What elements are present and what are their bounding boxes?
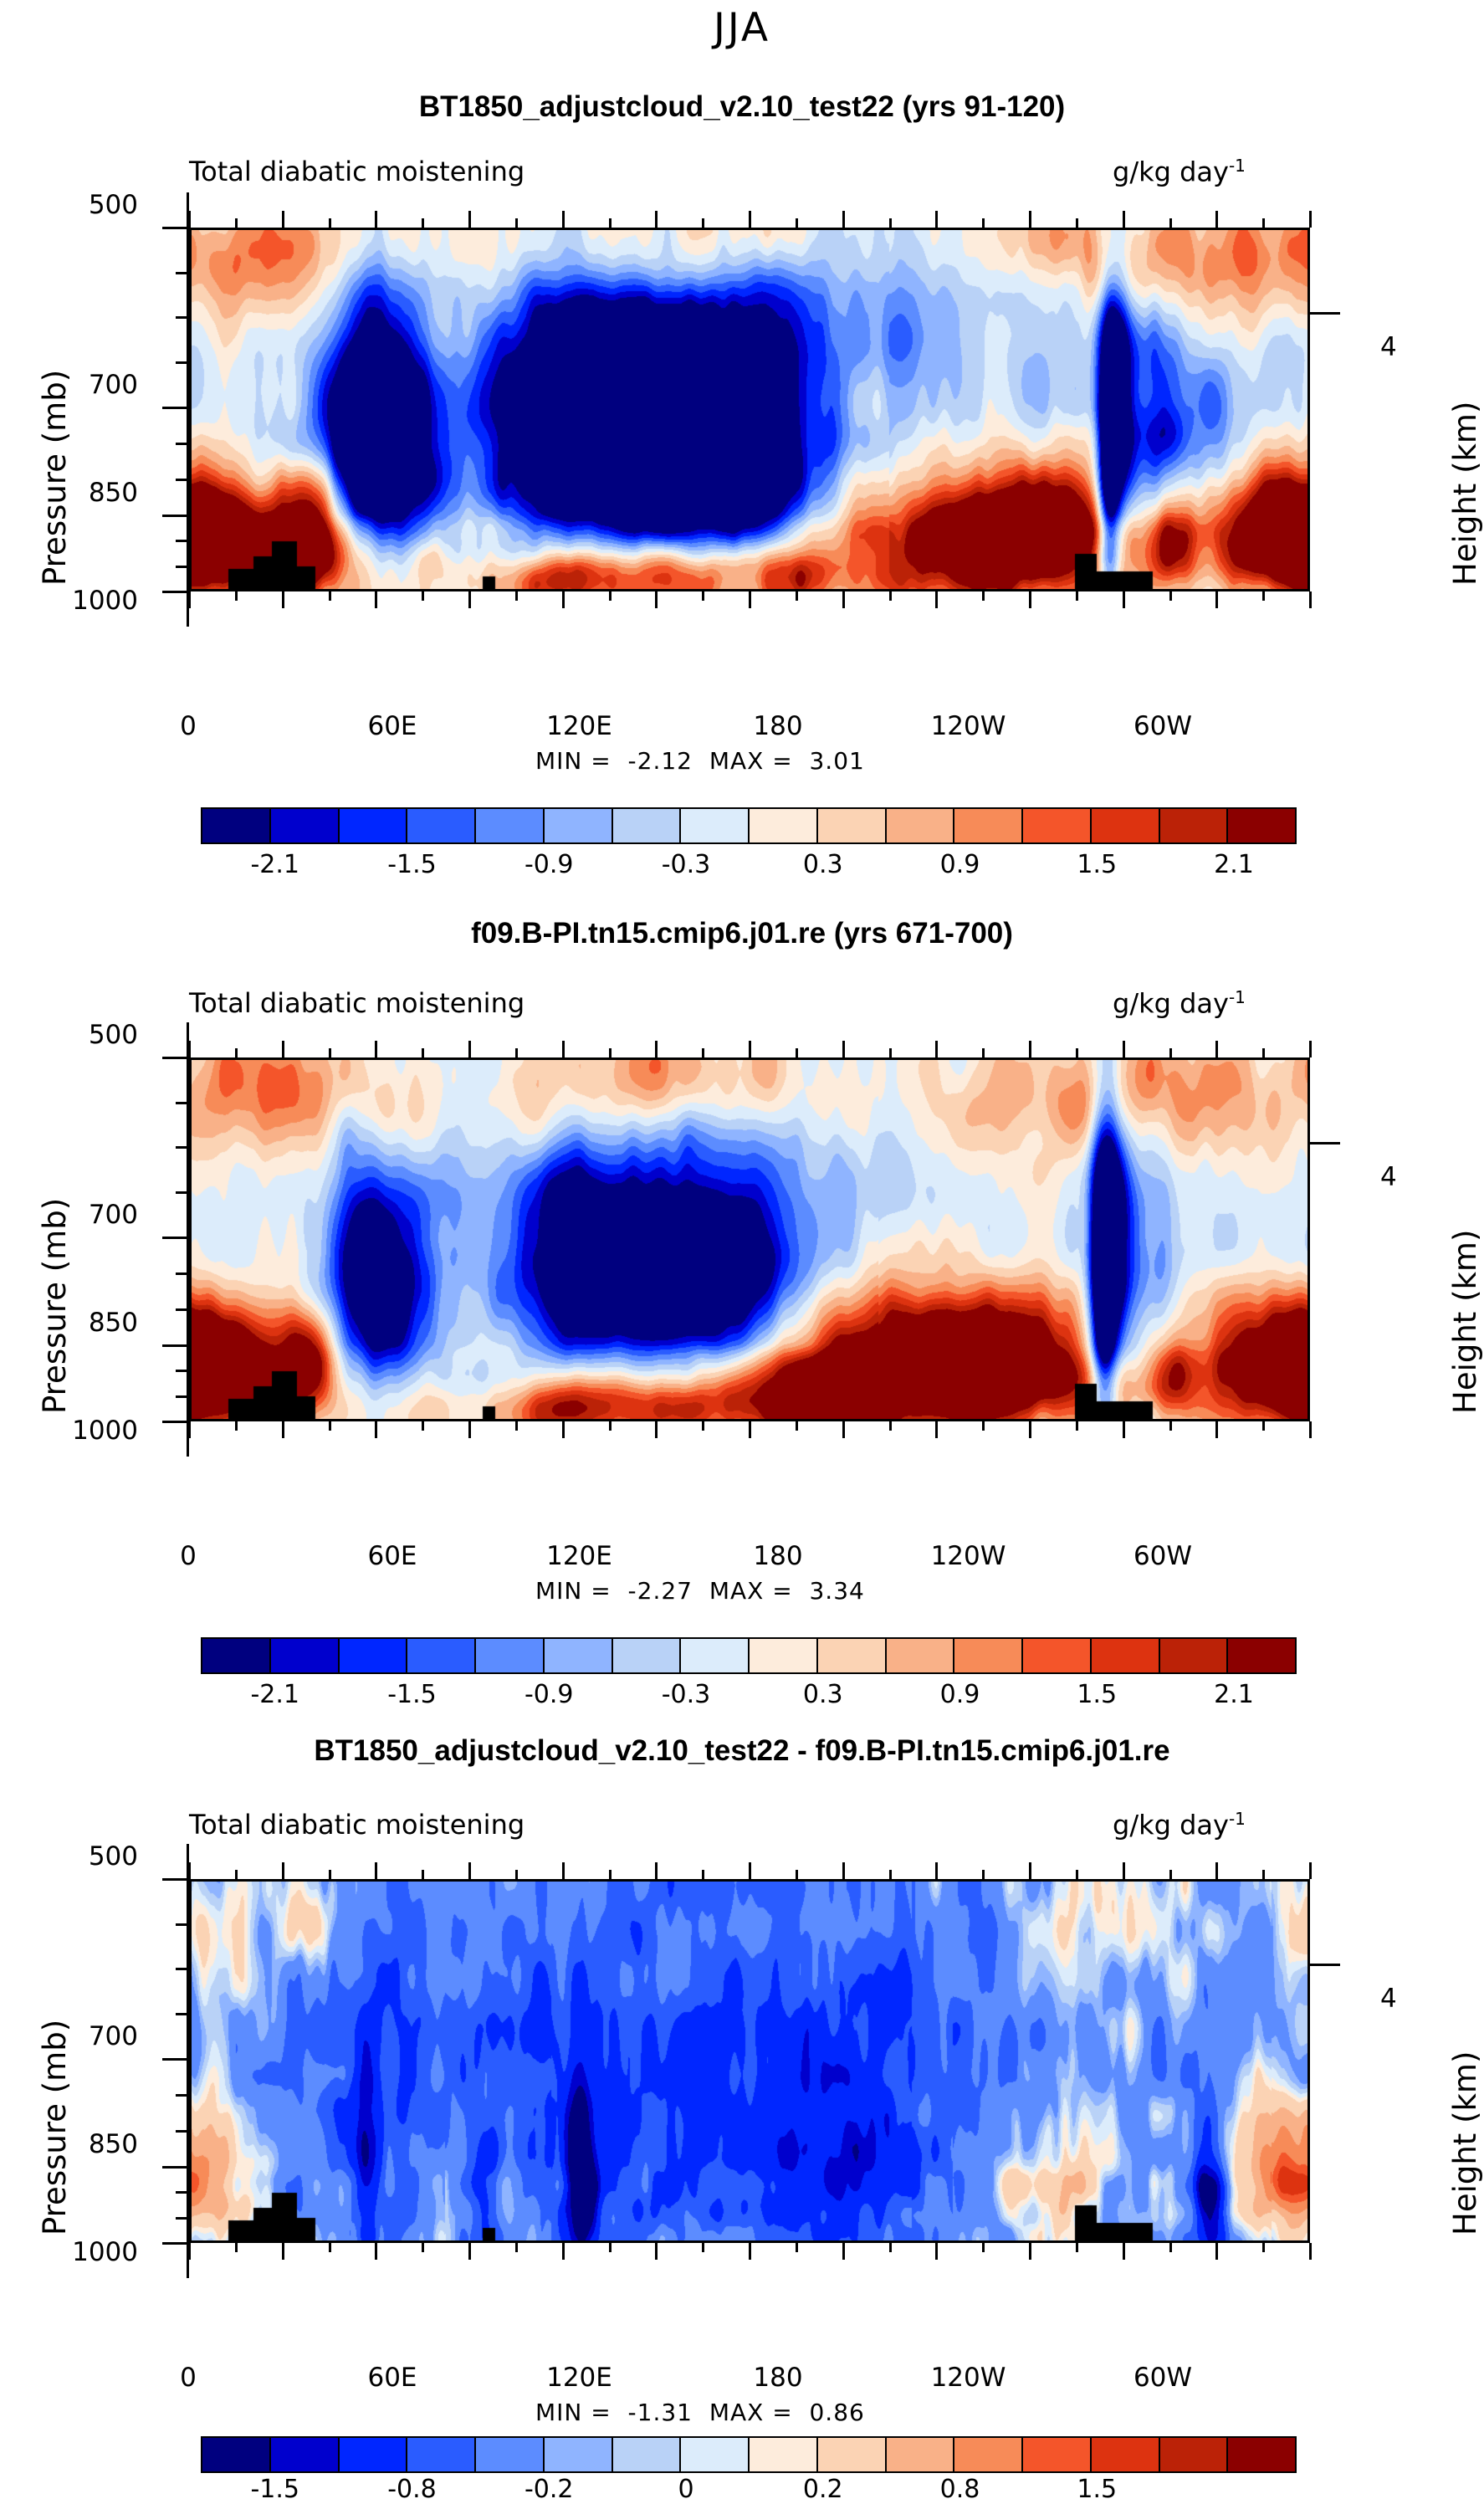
xtick-top-255 [982, 1048, 985, 1057]
colorbar-segment-5 [545, 2438, 613, 2471]
xtick-top-90 [468, 1862, 471, 1879]
xtick-top-300 [1123, 1041, 1125, 1057]
xtick-bottom-210 [842, 2243, 845, 2260]
xtick-bottom-105 [515, 591, 518, 601]
xtick-top-60 [375, 211, 377, 228]
xtick-top-45 [329, 1048, 331, 1057]
colorbar-segment-9 [818, 2438, 887, 2471]
xtick-top-30 [282, 1041, 284, 1057]
colorbar-segment-7 [681, 1639, 750, 1672]
xtick-top-135 [609, 218, 612, 228]
xtick-bottom-60 [375, 1421, 377, 1438]
xtick-bottom-135 [609, 1421, 612, 1431]
xtick-top-120 [562, 1862, 565, 1879]
colorbar-segment-11 [954, 1639, 1023, 1672]
xtick-bottom-180 [749, 2243, 751, 2260]
xtick-top-75 [422, 1870, 424, 1879]
panel-middle-minmax: MIN = -2.27 MAX = 3.34 [535, 1577, 865, 1605]
panel-middle-colorbar [201, 1637, 1297, 1674]
xtick-bottom-210 [842, 591, 845, 608]
ytick-left-850 [162, 515, 189, 517]
xtick-top-360 [1309, 1041, 1312, 1057]
colorbar-tick-label-0: -2.1 [212, 850, 338, 879]
xtick-bottom-45 [329, 1421, 331, 1431]
colorbar-segment-2 [340, 1639, 408, 1672]
xtick-bottom-315 [1169, 1421, 1172, 1431]
colorbar-segment-3 [407, 1639, 476, 1672]
colorbar-segment-4 [476, 2438, 545, 2471]
xtick-bottom-345 [1262, 2243, 1265, 2252]
xtick-bottom-75 [422, 591, 424, 601]
xtick-bottom-225 [889, 1421, 892, 1431]
xtick-top-240 [935, 211, 938, 228]
panel-middle-ytick-700: 700 [50, 1200, 138, 1230]
colorbar-segment-0 [202, 809, 271, 842]
xtick-top-285 [1076, 1048, 1078, 1057]
colorbar-segment-8 [750, 809, 818, 842]
colorbar-tick-label-0: -2.1 [212, 1680, 338, 1709]
xtick-top-270 [1029, 1862, 1031, 1879]
colorbar-segment-4 [476, 1639, 545, 1672]
xtick-top-15 [235, 1870, 238, 1879]
panel-top-minmax: MIN = -2.12 MAX = 3.01 [535, 747, 865, 775]
xtick-top-330 [1215, 1041, 1218, 1057]
xtick-top-195 [796, 1048, 798, 1057]
ytick-left-850 [162, 1344, 189, 1347]
panel-bottom-righttick-4: 4 [1380, 1984, 1397, 2014]
xtick-bottom-135 [609, 2243, 612, 2252]
panel-middle-xtick-120W: 120W [903, 1541, 1033, 1571]
xtick-bottom-90 [468, 591, 471, 608]
colorbar-segment-1 [271, 2438, 340, 2471]
panel-middle-xtick-0: 0 [159, 1541, 217, 1571]
panel-top-ytick-500: 500 [50, 190, 138, 220]
xtick-bottom-360 [1309, 591, 1312, 608]
xtick-bottom-90 [468, 1421, 471, 1438]
colorbar-segment-11 [954, 809, 1023, 842]
righttick-4 [1310, 1964, 1340, 1966]
panel-bottom-xtick-60W: 60W [1113, 2363, 1213, 2393]
xtick-top-150 [655, 1862, 658, 1879]
xtick-top-105 [515, 1048, 518, 1057]
xtick-bottom-270 [1029, 591, 1031, 608]
colorbar-segment-0 [202, 1639, 271, 1672]
xtick-top-30 [282, 211, 284, 228]
xtick-top-270 [1029, 1041, 1031, 1057]
panel-bottom-ytick-500: 500 [50, 1841, 138, 1872]
xtick-top-180 [749, 211, 751, 228]
colorbar-tick-label-2: -0.9 [486, 850, 612, 879]
xtick-top-75 [422, 1048, 424, 1057]
xtick-top-135 [609, 1048, 612, 1057]
left-axis-spine [187, 192, 189, 627]
xtick-top-240 [935, 1041, 938, 1057]
xtick-bottom-135 [609, 591, 612, 601]
xtick-bottom-285 [1076, 1421, 1078, 1431]
figure-suptitle: JJA [0, 5, 1484, 51]
panel-top-plot-area [189, 228, 1310, 591]
xtick-top-225 [889, 1870, 892, 1879]
xtick-bottom-270 [1029, 2243, 1031, 2260]
xtick-top-75 [422, 218, 424, 228]
colorbar-segment-3 [407, 2438, 476, 2471]
xtick-top-60 [375, 1041, 377, 1057]
panel-top-xtick-120E: 120E [519, 711, 640, 741]
xtick-bottom-285 [1076, 591, 1078, 601]
xtick-bottom-255 [982, 2243, 985, 2252]
xtick-bottom-345 [1262, 1421, 1265, 1431]
panel-bottom-minmax: MIN = -1.31 MAX = 0.86 [535, 2399, 865, 2426]
colorbar-segment-12 [1023, 809, 1092, 842]
colorbar-segment-14 [1160, 1639, 1229, 1672]
xtick-bottom-60 [375, 591, 377, 608]
xtick-top-300 [1123, 211, 1125, 228]
colorbar-tick-label-4: 0.3 [760, 1680, 886, 1709]
panel-top-right-axis-label: Height (km) [1447, 402, 1483, 586]
panel-middle-title: f09.B-PI.tn15.cmip6.j01.re (yrs 671-700) [0, 917, 1484, 950]
xtick-top-345 [1262, 1870, 1265, 1879]
panel-middle-yaxis-label: Pressure (mb) [37, 1198, 73, 1414]
units-exponent: -1 [1229, 1809, 1246, 1829]
xtick-top-330 [1215, 211, 1218, 228]
colorbar-tick-label-3: -0.3 [623, 1680, 749, 1709]
panel-bottom-yaxis-label: Pressure (mb) [37, 2020, 73, 2235]
left-axis-spine [187, 1844, 189, 2278]
panel-top-xtick-0: 0 [159, 711, 217, 741]
xtick-bottom-345 [1262, 591, 1265, 601]
xtick-bottom-30 [282, 591, 284, 608]
xtick-bottom-165 [702, 2243, 704, 2252]
xtick-bottom-330 [1215, 2243, 1218, 2260]
colorbar-segment-12 [1023, 2438, 1092, 2471]
xtick-bottom-90 [468, 2243, 471, 2260]
colorbar-tick-label-3: -0.3 [623, 850, 749, 879]
xtick-top-270 [1029, 211, 1031, 228]
ytick-left-500 [162, 1878, 189, 1881]
colorbar-tick-label-4: 0.3 [760, 850, 886, 879]
panel-top-ytick-1000: 1000 [33, 586, 138, 616]
panel-top-title: BT1850_adjustcloud_v2.10_test22 (yrs 91-… [0, 90, 1484, 124]
panel-middle-righttick-4: 4 [1380, 1162, 1397, 1192]
xtick-top-315 [1169, 1048, 1172, 1057]
panel-middle-xtick-180: 180 [732, 1541, 824, 1571]
xtick-bottom-315 [1169, 2243, 1172, 2252]
colorbar-segment-13 [1092, 1639, 1160, 1672]
panel-top-units-label: g/kg day-1 [1113, 156, 1246, 188]
panel-bottom-colorbar-ticks: -1.5-0.8-0.200.20.81.5 [201, 2475, 1297, 2500]
xtick-bottom-360 [1309, 2243, 1312, 2260]
ytick-left-500 [162, 227, 189, 229]
colorbar-segment-8 [750, 1639, 818, 1672]
xtick-bottom-330 [1215, 1421, 1218, 1438]
xtick-bottom-120 [562, 591, 565, 608]
panel-middle-xtick-120E: 120E [519, 1541, 640, 1571]
colorbar-segment-5 [545, 1639, 613, 1672]
colorbar-segment-4 [476, 809, 545, 842]
xtick-bottom-195 [796, 591, 798, 601]
panel-middle-ytick-1000: 1000 [33, 1416, 138, 1446]
xtick-bottom-60 [375, 2243, 377, 2260]
colorbar-segment-8 [750, 2438, 818, 2471]
xtick-top-300 [1123, 1862, 1125, 1879]
xtick-top-45 [329, 1870, 331, 1879]
panel-middle-colorbar-ticks: -2.1-1.5-0.9-0.30.30.91.52.1 [201, 1680, 1297, 1715]
xtick-bottom-150 [655, 1421, 658, 1438]
colorbar-segment-9 [818, 1639, 887, 1672]
xtick-bottom-15 [235, 2243, 238, 2252]
colorbar-segment-2 [340, 809, 408, 842]
colorbar-tick-label-5: 0.9 [898, 850, 1023, 879]
colorbar-segment-12 [1023, 1639, 1092, 1672]
xtick-bottom-300 [1123, 2243, 1125, 2260]
ytick-left-700 [162, 1237, 189, 1239]
figure-canvas: JJA BT1850_adjustcloud_v2.10_test22 (yrs… [0, 0, 1484, 2490]
xtick-bottom-330 [1215, 591, 1218, 608]
colorbar-tick-label-6: 1.5 [1034, 850, 1159, 879]
xtick-bottom-105 [515, 1421, 518, 1431]
xtick-bottom-15 [235, 591, 238, 601]
panel-middle-plot-area [189, 1057, 1310, 1421]
xtick-top-210 [842, 211, 845, 228]
panel-bottom-title: BT1850_adjustcloud_v2.10_test22 - f09.B-… [0, 1734, 1484, 1768]
ytick-left-1000 [162, 1421, 189, 1423]
xtick-top-255 [982, 218, 985, 228]
xtick-top-105 [515, 1870, 518, 1879]
colorbar-segment-13 [1092, 2438, 1160, 2471]
xtick-bottom-315 [1169, 591, 1172, 601]
panel-bottom-ytick-1000: 1000 [33, 2237, 138, 2267]
panel-top-colorbar-ticks: -2.1-1.5-0.9-0.30.30.91.52.1 [201, 850, 1297, 885]
xtick-bottom-150 [655, 2243, 658, 2260]
panel-bottom-plot-area [189, 1879, 1310, 2243]
xtick-top-60 [375, 1862, 377, 1879]
xtick-bottom-360 [1309, 1421, 1312, 1438]
colorbar-segment-7 [681, 2438, 750, 2471]
panel-top-ytick-850: 850 [50, 478, 138, 508]
xtick-top-105 [515, 218, 518, 228]
xtick-bottom-255 [982, 1421, 985, 1431]
units-exponent: -1 [1229, 156, 1246, 176]
panel-bottom-right-axis-label: Height (km) [1447, 2051, 1483, 2235]
xtick-top-210 [842, 1041, 845, 1057]
panel-bottom-ytick-700: 700 [50, 2021, 138, 2051]
colorbar-tick-label-6: 1.5 [1034, 1680, 1159, 1709]
xtick-top-120 [562, 211, 565, 228]
xtick-bottom-165 [702, 1421, 704, 1431]
colorbar-segment-6 [613, 1639, 682, 1672]
xtick-bottom-255 [982, 591, 985, 601]
ytick-left-700 [162, 407, 189, 409]
xtick-top-165 [702, 218, 704, 228]
xtick-bottom-30 [282, 2243, 284, 2260]
xtick-bottom-15 [235, 1421, 238, 1431]
ytick-left-700 [162, 2058, 189, 2061]
contour-field [192, 1060, 1307, 1419]
colorbar-segment-0 [202, 2438, 271, 2471]
xtick-bottom-165 [702, 591, 704, 601]
xtick-top-150 [655, 211, 658, 228]
xtick-top-225 [889, 1048, 892, 1057]
xtick-top-210 [842, 1862, 845, 1879]
panel-top-righttick-4: 4 [1380, 332, 1397, 362]
xtick-top-180 [749, 1041, 751, 1057]
xtick-bottom-45 [329, 591, 331, 601]
panel-bottom-ytick-850: 850 [50, 2129, 138, 2159]
xtick-top-360 [1309, 1862, 1312, 1879]
xtick-bottom-240 [935, 591, 938, 608]
xtick-top-315 [1169, 218, 1172, 228]
panel-top-xtick-60E: 60E [346, 711, 438, 741]
colorbar-segment-10 [887, 2438, 955, 2471]
panel-middle-units-label: g/kg day-1 [1113, 987, 1246, 1020]
panel-bottom-units-label: g/kg day-1 [1113, 1809, 1246, 1841]
colorbar-segment-2 [340, 2438, 408, 2471]
panel-middle-ytick-500: 500 [50, 1020, 138, 1050]
panel-top-ytick-700: 700 [50, 370, 138, 400]
panel-bottom-xtick-60E: 60E [346, 2363, 438, 2393]
xtick-top-285 [1076, 1870, 1078, 1879]
panel-top-variable-label: Total diabatic moistening [189, 156, 525, 187]
xtick-bottom-180 [749, 1421, 751, 1438]
xtick-bottom-180 [749, 591, 751, 608]
colorbar-segment-7 [681, 809, 750, 842]
xtick-bottom-240 [935, 2243, 938, 2260]
panel-middle-ytick-850: 850 [50, 1308, 138, 1338]
xtick-bottom-240 [935, 1421, 938, 1438]
colorbar-segment-13 [1092, 809, 1160, 842]
xtick-top-120 [562, 1041, 565, 1057]
colorbar-segment-11 [954, 2438, 1023, 2471]
panel-bottom-colorbar [201, 2436, 1297, 2473]
xtick-bottom-30 [282, 1421, 284, 1438]
xtick-top-285 [1076, 218, 1078, 228]
xtick-top-240 [935, 1862, 938, 1879]
xtick-top-135 [609, 1870, 612, 1879]
ytick-left-850 [162, 2166, 189, 2169]
contour-field [192, 230, 1307, 589]
colorbar-segment-5 [545, 809, 613, 842]
contour-field [192, 1882, 1307, 2240]
panel-top-colorbar [201, 807, 1297, 844]
panel-bottom-xtick-120W: 120W [903, 2363, 1033, 2393]
xtick-top-165 [702, 1048, 704, 1057]
panel-bottom-xtick-180: 180 [732, 2363, 824, 2393]
colorbar-segment-9 [818, 809, 887, 842]
panel-bottom-variable-label: Total diabatic moistening [189, 1809, 525, 1841]
colorbar-segment-14 [1160, 2438, 1229, 2471]
xtick-bottom-270 [1029, 1421, 1031, 1438]
units-exponent: -1 [1229, 987, 1246, 1007]
xtick-bottom-120 [562, 1421, 565, 1438]
colorbar-segment-3 [407, 809, 476, 842]
colorbar-segment-1 [271, 809, 340, 842]
xtick-bottom-105 [515, 2243, 518, 2252]
xtick-bottom-225 [889, 2243, 892, 2252]
xtick-top-15 [235, 218, 238, 228]
panel-middle-xtick-60E: 60E [346, 1541, 438, 1571]
colorbar-tick-label-1: -1.5 [350, 850, 475, 879]
colorbar-segment-15 [1228, 809, 1295, 842]
panel-bottom-xtick-120E: 120E [519, 2363, 640, 2393]
righttick-4 [1310, 312, 1340, 315]
colorbar-segment-6 [613, 809, 682, 842]
xtick-bottom-210 [842, 1421, 845, 1438]
xtick-top-315 [1169, 1870, 1172, 1879]
xtick-bottom-300 [1123, 1421, 1125, 1438]
ytick-left-500 [162, 1057, 189, 1059]
xtick-top-30 [282, 1862, 284, 1879]
xtick-top-195 [796, 218, 798, 228]
xtick-top-180 [749, 1862, 751, 1879]
xtick-top-45 [329, 218, 331, 228]
left-axis-spine [187, 1022, 189, 1457]
xtick-top-345 [1262, 218, 1265, 228]
xtick-top-330 [1215, 1862, 1218, 1879]
ytick-left-1000 [162, 2242, 189, 2245]
panel-middle-right-axis-label: Height (km) [1447, 1230, 1483, 1414]
xtick-top-150 [655, 1041, 658, 1057]
panel-top-xtick-60W: 60W [1113, 711, 1213, 741]
colorbar-segment-15 [1228, 1639, 1295, 1672]
xtick-bottom-150 [655, 591, 658, 608]
xtick-top-15 [235, 1048, 238, 1057]
xtick-top-345 [1262, 1048, 1265, 1057]
colorbar-segment-14 [1160, 809, 1229, 842]
colorbar-tick-label-7: 2.1 [1171, 1680, 1297, 1709]
xtick-top-255 [982, 1870, 985, 1879]
xtick-bottom-300 [1123, 591, 1125, 608]
xtick-bottom-285 [1076, 2243, 1078, 2252]
colorbar-tick-label-7: 2.1 [1171, 850, 1297, 879]
xtick-top-195 [796, 1870, 798, 1879]
panel-top-xtick-120W: 120W [903, 711, 1033, 741]
righttick-4 [1310, 1142, 1340, 1144]
xtick-bottom-195 [796, 1421, 798, 1431]
colorbar-tick-label-2: -0.9 [486, 1680, 612, 1709]
xtick-bottom-75 [422, 2243, 424, 2252]
xtick-bottom-195 [796, 2243, 798, 2252]
xtick-top-165 [702, 1870, 704, 1879]
colorbar-segment-6 [613, 2438, 682, 2471]
panel-middle-xtick-60W: 60W [1113, 1541, 1213, 1571]
ytick-left-1000 [162, 591, 189, 593]
colorbar-segment-15 [1228, 2438, 1295, 2471]
panel-top-xtick-180: 180 [732, 711, 824, 741]
xtick-top-90 [468, 211, 471, 228]
xtick-top-90 [468, 1041, 471, 1057]
xtick-bottom-120 [562, 2243, 565, 2260]
panel-bottom-xtick-0: 0 [159, 2363, 217, 2393]
colorbar-segment-1 [271, 1639, 340, 1672]
panel-middle-variable-label: Total diabatic moistening [189, 987, 525, 1019]
colorbar-segment-10 [887, 1639, 955, 1672]
xtick-bottom-225 [889, 591, 892, 601]
xtick-top-225 [889, 218, 892, 228]
xtick-bottom-45 [329, 2243, 331, 2252]
xtick-top-360 [1309, 211, 1312, 228]
colorbar-segment-10 [887, 809, 955, 842]
xtick-bottom-75 [422, 1421, 424, 1431]
colorbar-tick-label-5: 0.9 [898, 1680, 1023, 1709]
colorbar-tick-label-1: -1.5 [350, 1680, 475, 1709]
